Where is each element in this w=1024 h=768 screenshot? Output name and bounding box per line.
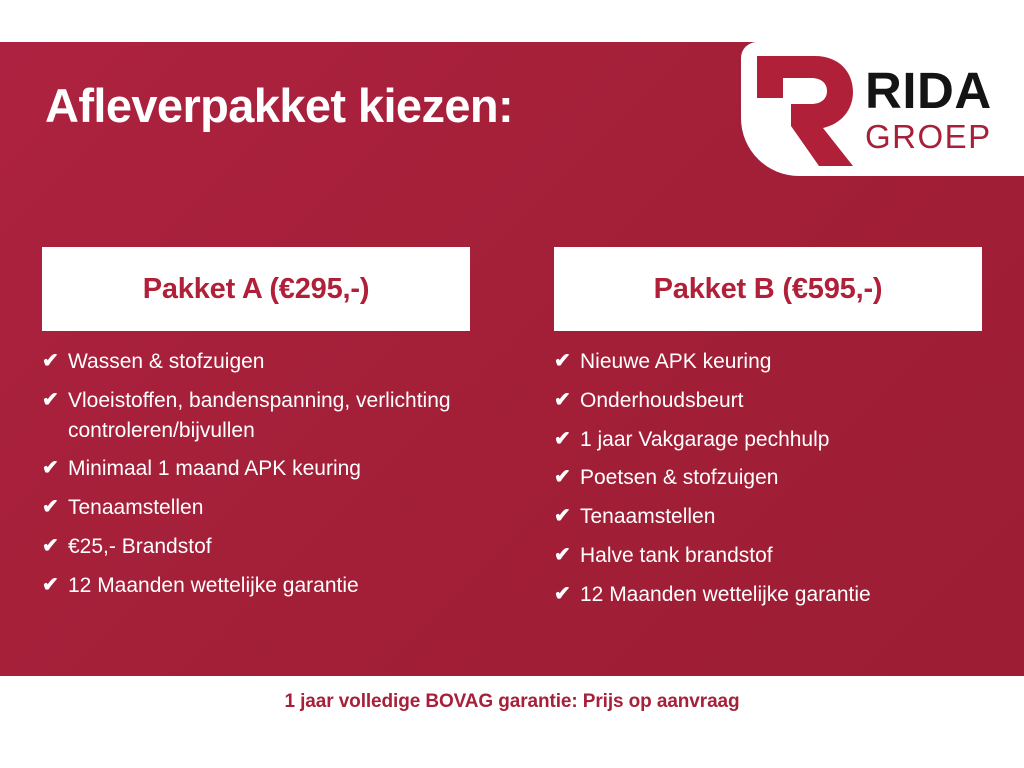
package-card-a[interactable]: Pakket A (€295,-) ✔ Wassen & stofzuigen …: [0, 247, 512, 619]
check-icon: ✔: [554, 463, 580, 491]
list-item: ✔ Minimaal 1 maand APK keuring: [42, 454, 470, 484]
list-item-label: Vloeistoffen, bandenspanning, verlichtin…: [68, 386, 470, 446]
check-icon: ✔: [554, 386, 580, 414]
package-b-feature-list: ✔ Nieuwe APK keuring ✔ Onderhoudsbeurt ✔…: [554, 347, 982, 610]
package-b-title: Pakket B (€595,-): [654, 273, 883, 306]
package-card-b[interactable]: Pakket B (€595,-) ✔ Nieuwe APK keuring ✔…: [512, 247, 1024, 619]
list-item: ✔ Onderhoudsbeurt: [554, 386, 982, 416]
list-item: ✔ Wassen & stofzuigen: [42, 347, 470, 377]
list-item-label: Tenaamstellen: [580, 502, 982, 532]
package-a-header: Pakket A (€295,-): [42, 247, 470, 331]
brand-logo: RIDA GROEP: [741, 42, 1024, 176]
list-item: ✔ Vloeistoffen, bandenspanning, verlicht…: [42, 386, 470, 446]
list-item-label: Nieuwe APK keuring: [580, 347, 982, 377]
logo-wordmark: RIDA GROEP: [865, 65, 992, 153]
list-item: ✔ Halve tank brandstof: [554, 541, 982, 571]
list-item-label: 12 Maanden wettelijke garantie: [68, 571, 470, 601]
check-icon: ✔: [42, 532, 68, 560]
list-item-label: Poetsen & stofzuigen: [580, 463, 982, 493]
list-item: ✔ Nieuwe APK keuring: [554, 347, 982, 377]
list-item: ✔ 12 Maanden wettelijke garantie: [554, 580, 982, 610]
list-item-label: Wassen & stofzuigen: [68, 347, 470, 377]
check-icon: ✔: [554, 502, 580, 530]
check-icon: ✔: [42, 571, 68, 599]
list-item-label: 12 Maanden wettelijke garantie: [580, 580, 982, 610]
list-item: ✔ 12 Maanden wettelijke garantie: [42, 571, 470, 601]
logo-name-primary: RIDA: [865, 65, 992, 116]
check-icon: ✔: [554, 541, 580, 569]
list-item: ✔ €25,- Brandstof: [42, 532, 470, 562]
list-item-label: €25,- Brandstof: [68, 532, 470, 562]
rida-r-monogram-icon: [753, 52, 857, 170]
slide-root: Afleverpakket kiezen: RIDA GROEP Pakket …: [0, 0, 1024, 768]
list-item-label: 1 jaar Vakgarage pechhulp: [580, 425, 982, 455]
logo-name-secondary: GROEP: [865, 120, 992, 153]
footer-guarantee-text: 1 jaar volledige BOVAG garantie: Prijs o…: [284, 691, 739, 768]
check-icon: ✔: [554, 580, 580, 608]
list-item-label: Minimaal 1 maand APK keuring: [68, 454, 470, 484]
check-icon: ✔: [554, 425, 580, 453]
footer-banner: 1 jaar volledige BOVAG garantie: Prijs o…: [0, 676, 1024, 768]
page-title: Afleverpakket kiezen:: [45, 78, 513, 133]
package-b-header: Pakket B (€595,-): [554, 247, 982, 331]
list-item: ✔ Tenaamstellen: [554, 502, 982, 532]
list-item: ✔ Tenaamstellen: [42, 493, 470, 523]
check-icon: ✔: [42, 347, 68, 375]
check-icon: ✔: [42, 454, 68, 482]
list-item: ✔ Poetsen & stofzuigen: [554, 463, 982, 493]
list-item: ✔ 1 jaar Vakgarage pechhulp: [554, 425, 982, 455]
list-item-label: Onderhoudsbeurt: [580, 386, 982, 416]
package-columns: Pakket A (€295,-) ✔ Wassen & stofzuigen …: [0, 247, 1024, 619]
list-item-label: Tenaamstellen: [68, 493, 470, 523]
package-a-feature-list: ✔ Wassen & stofzuigen ✔ Vloeistoffen, ba…: [42, 347, 470, 601]
check-icon: ✔: [42, 493, 68, 521]
package-a-title: Pakket A (€295,-): [143, 273, 370, 306]
check-icon: ✔: [42, 386, 68, 414]
check-icon: ✔: [554, 347, 580, 375]
list-item-label: Halve tank brandstof: [580, 541, 982, 571]
